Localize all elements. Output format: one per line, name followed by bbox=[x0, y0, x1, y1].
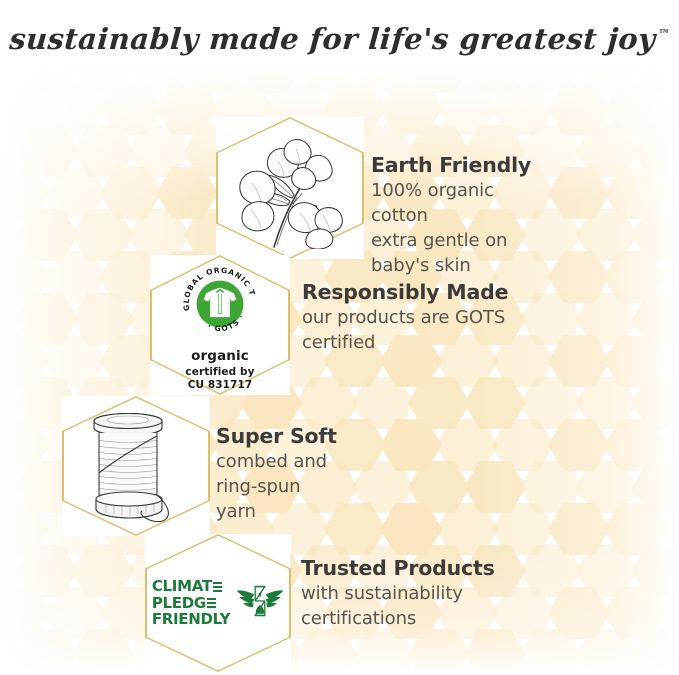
feature-text-trusted-products: Trusted Products with sustainability cer… bbox=[301, 556, 495, 631]
cpf-line-2: PLEDG bbox=[152, 595, 206, 612]
climate-pledge-artwork: CLIMAT PLEDG FRIENDLY bbox=[145, 534, 291, 672]
tagline-text: sustainably made for life's greatest joy bbox=[8, 22, 656, 56]
product-feature-infographic: sustainably made for life's greatest joy… bbox=[0, 0, 679, 675]
gots-ring-text-top: GLOBAL ORGANIC TEXTILE STANDARD bbox=[261, 263, 262, 264]
feature-body: with sustainability certifications bbox=[301, 581, 495, 631]
feature-heading: Trusted Products bbox=[301, 556, 495, 580]
gots-organic-label: organic bbox=[191, 348, 249, 364]
feature-text-responsibly-made: Responsibly Made our products are GOTS c… bbox=[302, 280, 508, 355]
feature-body: our products are GOTS certified bbox=[302, 305, 508, 355]
cpf-line-3: FRIENDLY bbox=[152, 611, 230, 628]
gots-certified-by-label: certified by bbox=[185, 366, 254, 379]
cotton-boll-sketch-icon bbox=[216, 117, 364, 259]
cpf-bars-icon bbox=[213, 582, 222, 592]
feature-text-earth-friendly: Earth Friendly 100% organic cotton extra… bbox=[371, 153, 531, 278]
gots-license-code: CU 831717 bbox=[188, 379, 253, 392]
thread-spool-sketch-icon bbox=[62, 396, 210, 536]
climate-pledge-friendly-badge: CLIMAT PLEDG FRIENDLY bbox=[152, 578, 284, 628]
tagline: sustainably made for life's greatest joy… bbox=[0, 22, 679, 56]
climate-pledge-friendly-icon: CLIMAT PLEDG FRIENDLY bbox=[145, 534, 291, 672]
gots-seal: GLOBAL ORGANIC TEXTILE STANDARD · GOTS ·… bbox=[179, 263, 261, 345]
cpf-line-1: CLIMAT bbox=[152, 578, 212, 595]
climate-pledge-wordmark: CLIMAT PLEDG FRIENDLY bbox=[152, 578, 230, 628]
trademark-symbol: ™ bbox=[657, 27, 670, 41]
gots-badge-artwork: GLOBAL ORGANIC TEXTILE STANDARD · GOTS ·… bbox=[150, 255, 290, 395]
gots-badge: GLOBAL ORGANIC TEXTILE STANDARD · GOTS ·… bbox=[158, 263, 282, 387]
gots-organic-certification-icon: GLOBAL ORGANIC TEXTILE STANDARD · GOTS ·… bbox=[150, 255, 290, 395]
gots-ring-text-bottom: GOTS bbox=[261, 263, 262, 264]
thread-spool-artwork bbox=[62, 396, 210, 536]
winged-hourglass-icon bbox=[236, 580, 284, 627]
feature-text-super-soft: Super Soft combed and ring-spun yarn bbox=[216, 424, 337, 524]
cotton-boll-artwork bbox=[216, 117, 364, 259]
feature-heading: Earth Friendly bbox=[371, 153, 531, 177]
feature-heading: Responsibly Made bbox=[302, 280, 508, 304]
feature-body: combed and ring-spun yarn bbox=[216, 449, 337, 524]
feature-body: 100% organic cotton extra gentle on baby… bbox=[371, 178, 531, 278]
feature-heading: Super Soft bbox=[216, 424, 337, 448]
cpf-bars-icon bbox=[207, 598, 216, 608]
